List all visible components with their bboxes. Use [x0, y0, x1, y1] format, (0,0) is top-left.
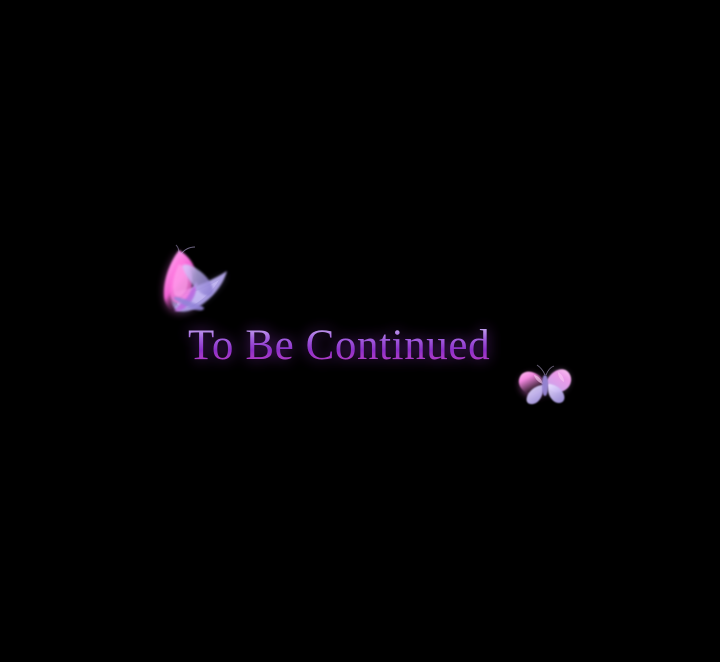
butterfly-icon-left: [148, 244, 232, 326]
butterfly-icon-right: [512, 362, 578, 410]
butterfly-right-graphic: [512, 362, 578, 410]
butterfly-right-body: [542, 375, 548, 396]
butterfly-left-graphic: [148, 244, 232, 326]
end-card-scene: To Be Continued To Be Continued: [0, 0, 720, 662]
page-title: To Be Continued: [188, 320, 548, 372]
title-block: To Be Continued To Be Continued: [188, 320, 548, 372]
